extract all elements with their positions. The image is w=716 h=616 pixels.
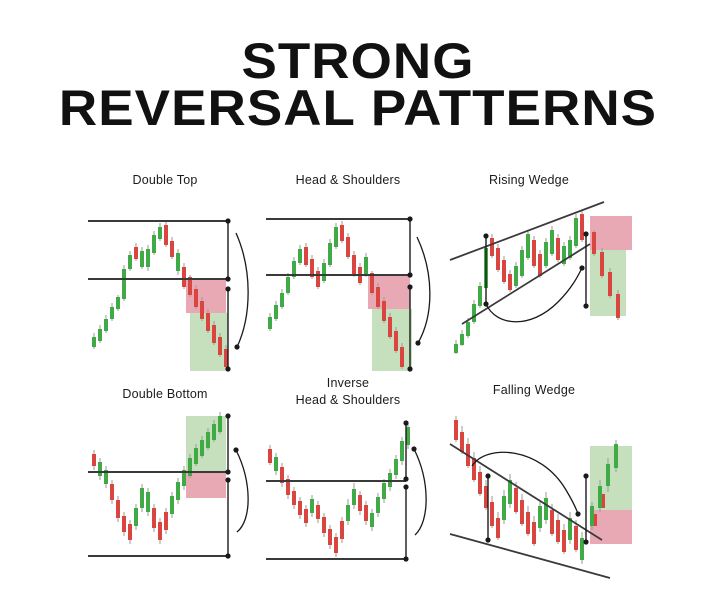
- panel-head-and-shoulders: Head & Shoulders: [258, 172, 438, 372]
- candles: [92, 450, 186, 544]
- candles: [454, 416, 584, 564]
- chart-rising-wedge: [444, 194, 644, 374]
- measure-curve: [486, 268, 582, 322]
- measure-arrow: [410, 219, 430, 369]
- candles: [454, 210, 584, 354]
- title-line-1: STRONG: [0, 38, 716, 85]
- panel-double-top: Double Top: [80, 172, 250, 372]
- profit-zone: [590, 446, 632, 510]
- chart-head-and-shoulders: [258, 197, 438, 372]
- panel-label-rising-wedge: Rising Wedge: [444, 172, 614, 189]
- title-line-2: REVERSAL PATTERNS: [0, 85, 716, 132]
- page-title: STRONG REVERSAL PATTERNS: [0, 38, 716, 132]
- chart-double-top: [80, 197, 250, 372]
- panel-label-double-bottom: Double Bottom: [80, 386, 250, 403]
- candles: [268, 423, 410, 557]
- panel-double-bottom: Double Bottom: [80, 386, 250, 586]
- measure-dots: [485, 473, 588, 544]
- infographic-root: STRONG REVERSAL PATTERNS Double Top: [0, 0, 716, 616]
- panel-falling-wedge: Falling Wedge: [444, 382, 644, 582]
- chart-double-bottom: [80, 408, 250, 573]
- panel-inverse-head-and-shoulders: Inverse Head & Shoulders: [258, 375, 438, 585]
- measure-arrow: [228, 416, 248, 556]
- chart-falling-wedge: [444, 408, 644, 583]
- panel-label-double-top: Double Top: [80, 172, 250, 189]
- panel-label-falling-wedge: Falling Wedge: [444, 382, 624, 399]
- panel-label-inverse-head-and-shoulders: Inverse Head & Shoulders: [258, 375, 438, 409]
- loss-zone: [590, 216, 632, 250]
- panel-label-head-and-shoulders: Head & Shoulders: [258, 172, 438, 189]
- panel-rising-wedge: Rising Wedge: [444, 172, 644, 372]
- loss-zone: [368, 275, 410, 309]
- chart-inverse-head-and-shoulders: [258, 417, 438, 567]
